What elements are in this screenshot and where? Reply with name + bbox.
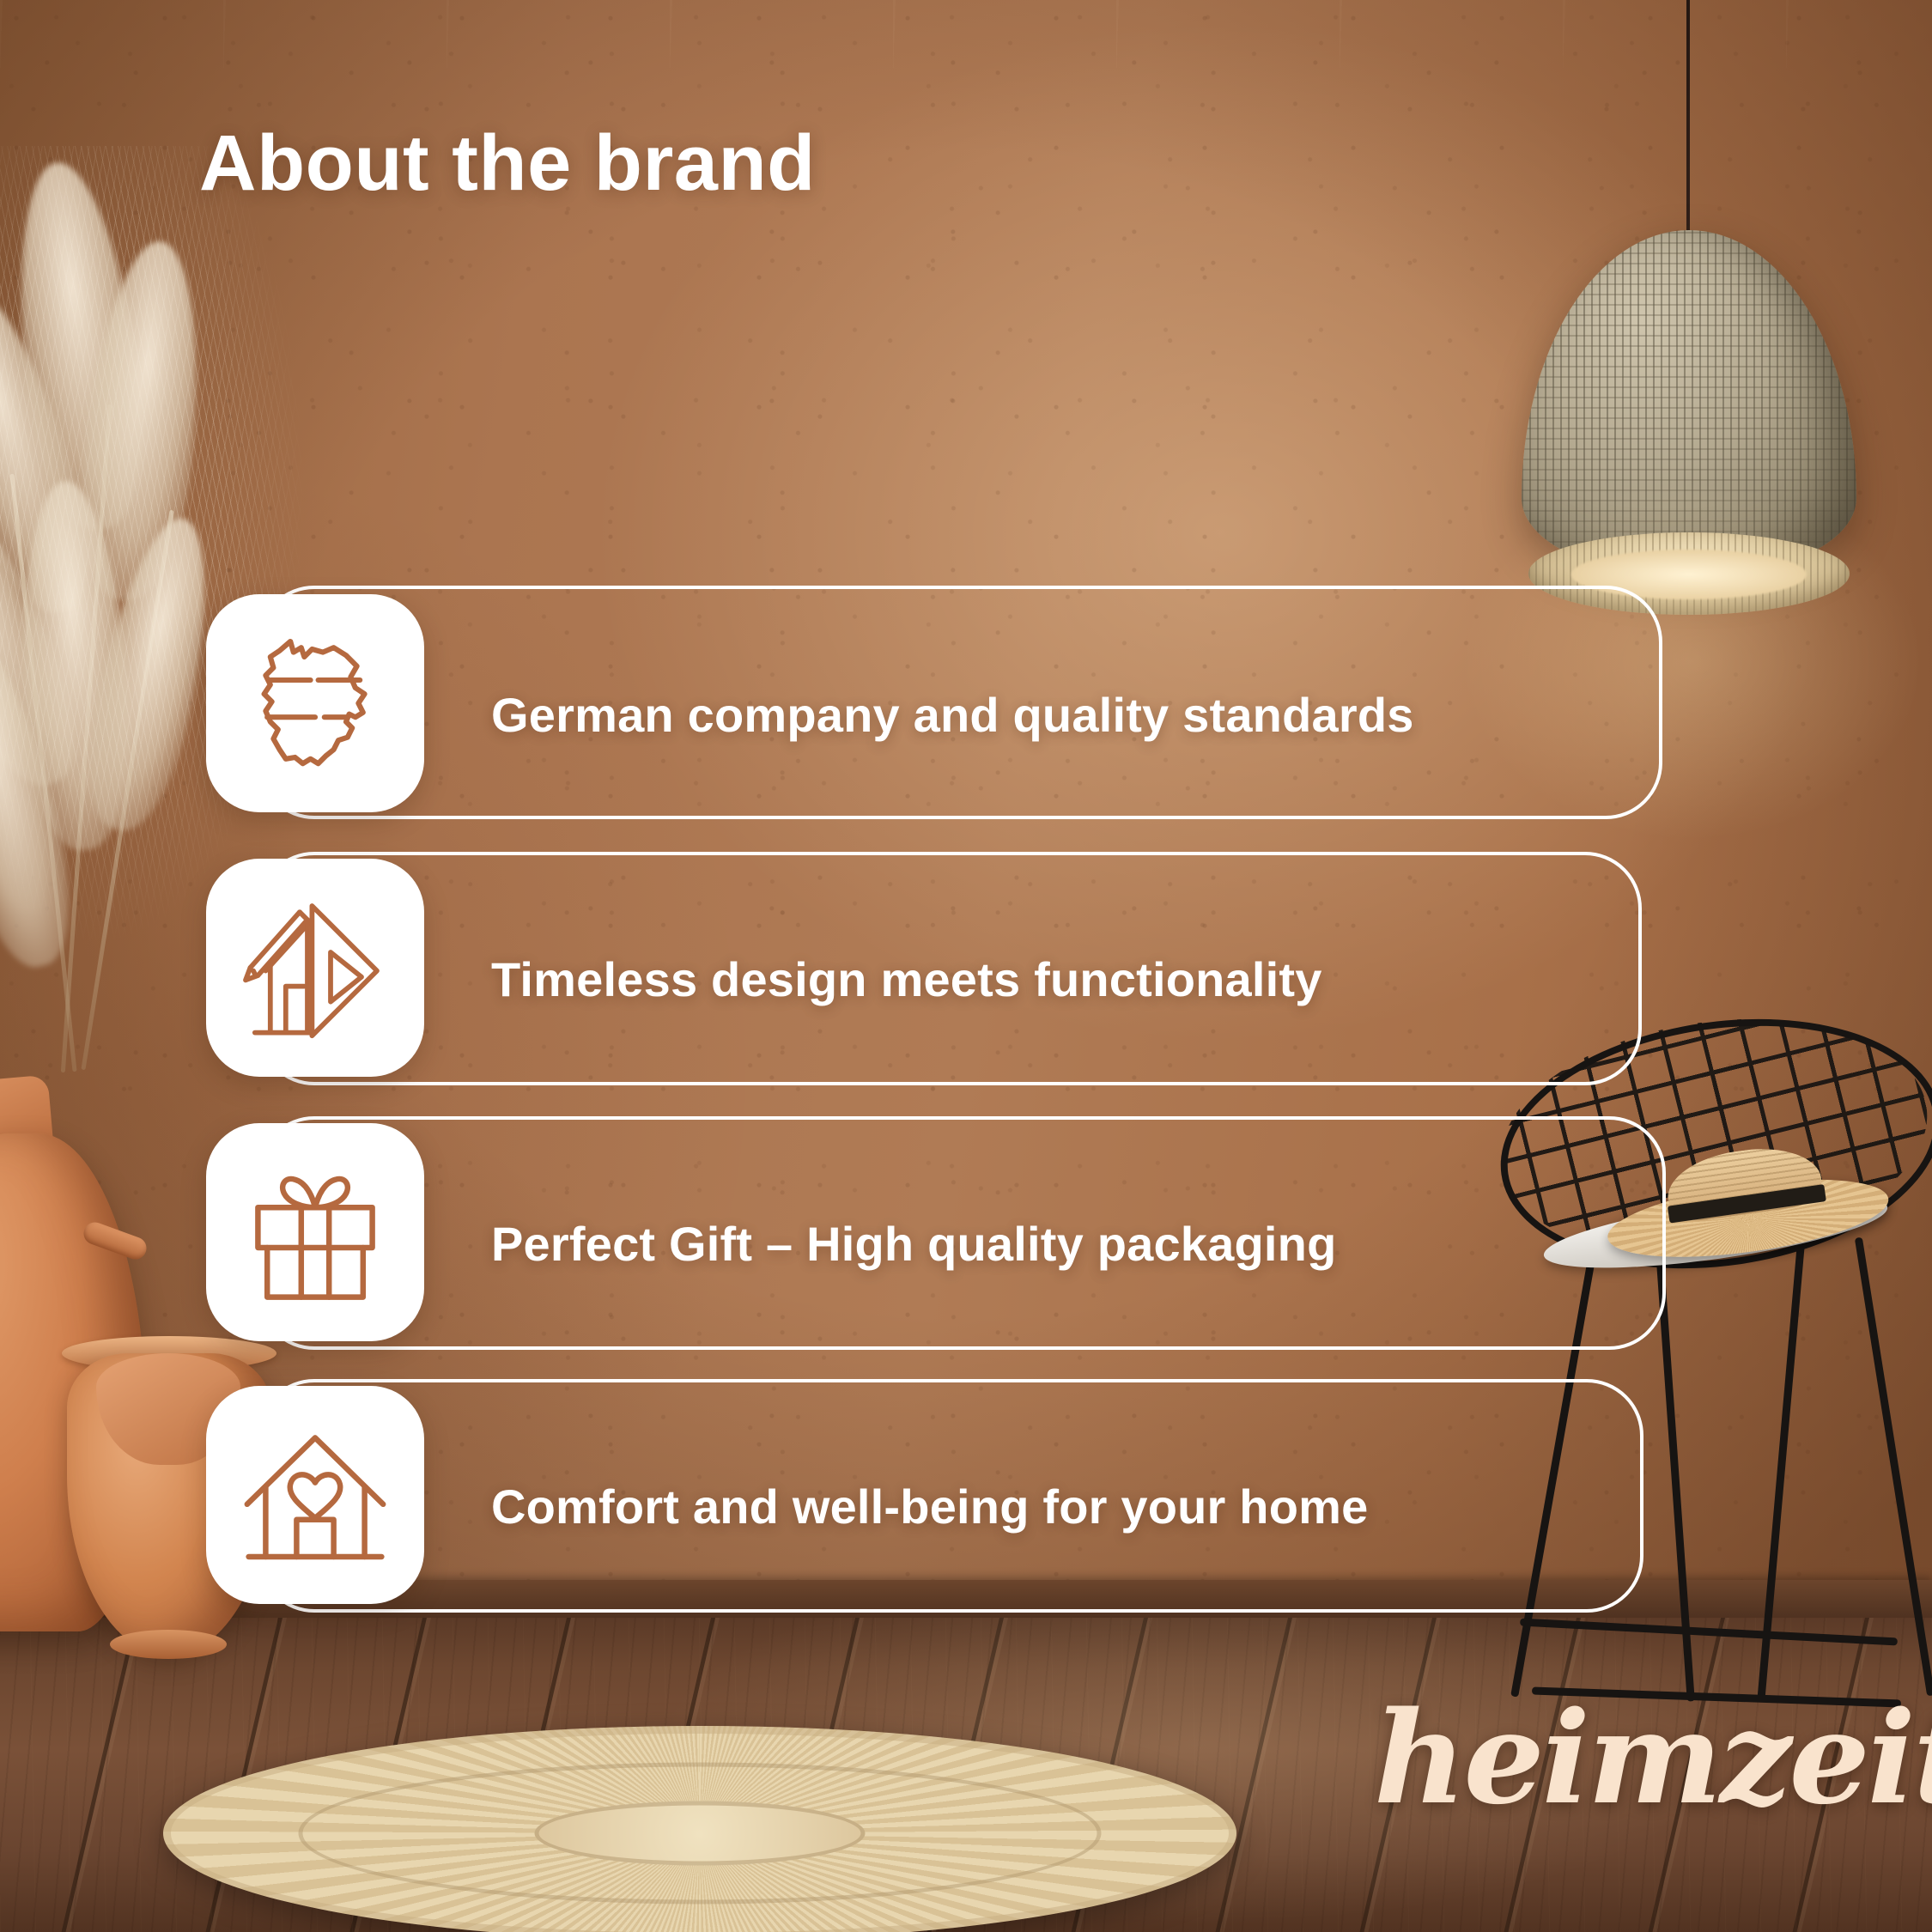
lamp-inner-glow xyxy=(1571,550,1807,599)
page-title: About the brand xyxy=(199,118,816,209)
rug-ring-inner xyxy=(535,1801,866,1866)
vase-small-foot xyxy=(110,1630,227,1659)
black-wire-chair xyxy=(1494,1022,1932,1717)
pampas-fibre-texture xyxy=(0,146,318,1073)
lamp-dome xyxy=(1522,230,1856,574)
rattan-pendant-lamp xyxy=(1522,230,1856,621)
lamp-cord xyxy=(1686,0,1690,234)
pampas-grass xyxy=(0,146,318,1073)
brand-infographic: About the brand German company and quali… xyxy=(0,0,1932,1932)
brand-logo: heimzeit xyxy=(1374,1683,1932,1832)
round-jute-rug xyxy=(163,1726,1236,1932)
